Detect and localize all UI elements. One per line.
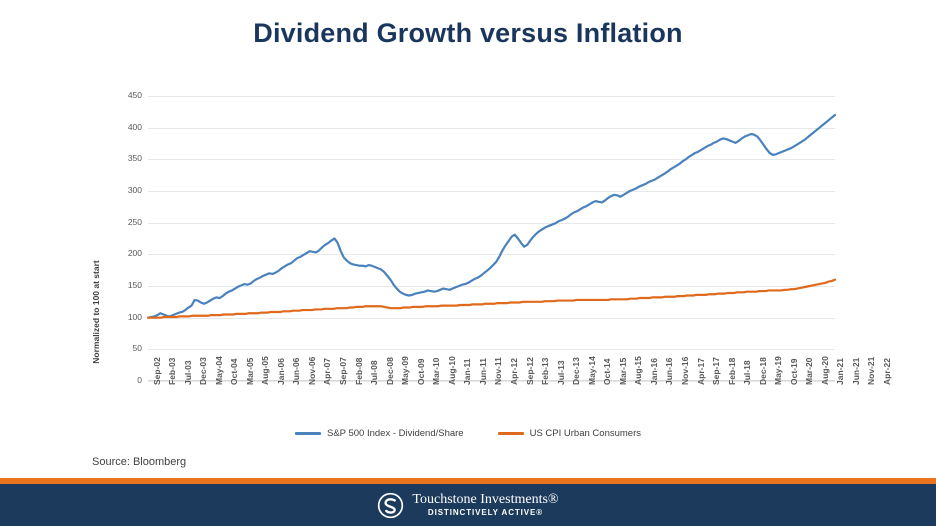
- x-axis-tick: Oct-14: [602, 359, 612, 385]
- x-axis-tick: Jun-21: [851, 358, 861, 385]
- x-axis-tick: Sep-12: [525, 357, 535, 385]
- legend-swatch: [295, 432, 321, 436]
- y-axis-tick: 350: [102, 153, 142, 163]
- x-axis-tick: Feb-13: [540, 358, 550, 385]
- x-axis-tick: Nov-06: [307, 357, 317, 385]
- x-axis-tick: Dec-13: [571, 357, 581, 385]
- brand-lockup: Touchstone Investments® DISTINCTIVELY AC…: [377, 492, 558, 519]
- x-axis-tick: Feb-08: [354, 358, 364, 385]
- x-axis-tick: Oct-04: [229, 359, 239, 385]
- slide-canvas: Dividend Growth versus Inflation Normali…: [0, 0, 936, 526]
- series-lines: [148, 96, 835, 381]
- x-axis-tick: Mar-10: [431, 358, 441, 385]
- x-axis-tick: Mar-20: [804, 358, 814, 385]
- x-axis-tick: Aug-15: [633, 356, 643, 385]
- plot-area: [148, 96, 835, 381]
- y-axis-tick: 150: [102, 280, 142, 290]
- x-axis-tick: Jul-18: [742, 360, 752, 385]
- x-axis-tick: Apr-12: [509, 358, 519, 385]
- x-axis-tick: Apr-07: [322, 358, 332, 385]
- x-axis-tick: Jun-06: [291, 358, 301, 385]
- y-axis-tick: 0: [102, 375, 142, 385]
- x-axis-tick: Jul-13: [556, 360, 566, 385]
- x-axis-tick: Mar-15: [618, 358, 628, 385]
- series-line-sp500-dividend: [148, 115, 835, 318]
- x-axis-tick: Dec-18: [758, 357, 768, 385]
- series-line-us-cpi: [148, 280, 835, 318]
- y-axis-title-text: Normalized to 100 at start: [91, 260, 101, 363]
- y-axis-tick: 50: [102, 343, 142, 353]
- legend-item[interactable]: S&P 500 Index - Dividend/Share: [295, 428, 464, 439]
- x-axis-tick: Oct-09: [416, 359, 426, 385]
- x-axis-tick: Jul-08: [369, 360, 379, 385]
- legend-label: US CPI Urban Consumers: [530, 428, 641, 439]
- x-axis-tick: Jun-16: [664, 358, 674, 385]
- x-axis-tick: Jan-11: [462, 359, 472, 385]
- x-axis-tick: Sep-17: [711, 357, 721, 385]
- x-axis-tick: Dec-03: [198, 357, 208, 385]
- x-axis-tick: Jul-03: [183, 360, 193, 385]
- x-axis-tick: May-09: [400, 356, 410, 385]
- x-axis-tick: Jan-06: [276, 358, 286, 385]
- x-axis-tick: Apr-17: [696, 358, 706, 385]
- x-axis-tick: May-04: [214, 356, 224, 385]
- x-axis-tick: Feb-18: [727, 358, 737, 385]
- y-axis-tick: 400: [102, 122, 142, 132]
- chart-container: Normalized to 100 at start 0501001502002…: [0, 72, 936, 427]
- x-axis-tick: Apr-22: [882, 358, 892, 385]
- brand-text: Touchstone Investments® DISTINCTIVELY AC…: [412, 492, 558, 517]
- source-note: Source: Bloomberg: [92, 456, 186, 468]
- x-axis-tick: Jan-16: [649, 358, 659, 385]
- brand-name: Touchstone Investments®: [412, 492, 558, 508]
- x-axis-tick: May-19: [773, 356, 783, 385]
- y-axis-tick: 250: [102, 217, 142, 227]
- x-axis-tick: Sep-02: [152, 357, 162, 385]
- x-axis-tick: Oct-19: [789, 359, 799, 385]
- x-axis-tick: Jun-11: [478, 358, 488, 385]
- x-axis-tick: Aug-10: [447, 356, 457, 385]
- chart-legend: S&P 500 Index - Dividend/ShareUS CPI Urb…: [0, 428, 936, 439]
- x-axis-tick: Feb-03: [167, 358, 177, 385]
- page-title: Dividend Growth versus Inflation: [0, 18, 936, 49]
- legend-item[interactable]: US CPI Urban Consumers: [498, 428, 641, 439]
- legend-swatch: [498, 432, 524, 436]
- x-axis-tick: Dec-08: [385, 357, 395, 385]
- brand-tagline: DISTINCTIVELY ACTIVE®: [412, 508, 558, 517]
- y-axis-tick: 200: [102, 248, 142, 258]
- y-axis-tick: 300: [102, 185, 142, 195]
- x-axis-tick: Aug-05: [260, 356, 270, 385]
- x-axis-tick: May-14: [587, 356, 597, 385]
- x-axis-tick: Nov-21: [866, 357, 876, 385]
- x-axis-tick: Nov-11: [493, 357, 503, 385]
- footer-bar: Touchstone Investments® DISTINCTIVELY AC…: [0, 484, 936, 526]
- x-axis-tick: Sep-07: [338, 357, 348, 385]
- y-axis-tick: 100: [102, 312, 142, 322]
- y-axis-tick: 450: [102, 90, 142, 100]
- legend-label: S&P 500 Index - Dividend/Share: [327, 428, 464, 439]
- x-axis-tick: Nov-16: [680, 357, 690, 385]
- x-axis-tick: Mar-05: [245, 358, 255, 385]
- x-axis-tick: Aug-20: [820, 356, 830, 385]
- touchstone-swirl-logo-icon: [377, 492, 404, 519]
- x-axis-tick: Jan-21: [835, 358, 845, 385]
